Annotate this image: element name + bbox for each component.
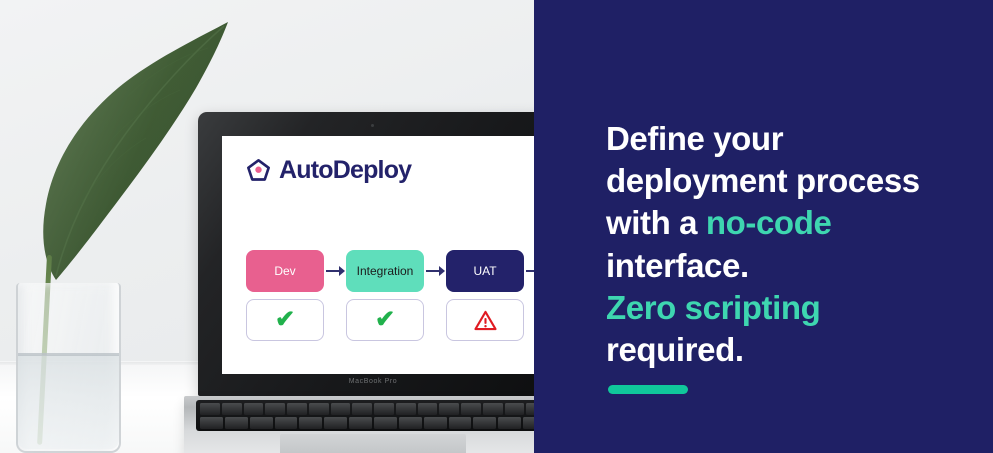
copy-panel: Define your deployment process with a no… bbox=[534, 0, 993, 453]
vase-water bbox=[18, 355, 119, 449]
keyboard[interactable] bbox=[196, 400, 534, 431]
status-box-dev[interactable]: ✔ bbox=[246, 299, 324, 341]
check-icon: ✔ bbox=[375, 308, 395, 332]
headline-line-4: interface. bbox=[606, 247, 749, 284]
app-brand: AutoDeploy bbox=[246, 158, 534, 183]
pipeline-stage-dev[interactable]: Dev ✔ bbox=[246, 250, 324, 341]
headline-accent-no-code: no-code bbox=[706, 204, 832, 241]
pipeline-stage-uat[interactable]: UAT bbox=[446, 250, 524, 341]
headline-accent-zero-scripting: Zero scripting bbox=[606, 289, 820, 326]
vase-waterline bbox=[18, 353, 119, 356]
laptop-base bbox=[184, 396, 534, 453]
stage-label-integration[interactable]: Integration bbox=[346, 250, 424, 292]
status-box-integration[interactable]: ✔ bbox=[346, 299, 424, 341]
glass-vase bbox=[16, 283, 121, 453]
key-row bbox=[200, 403, 534, 415]
check-icon: ✔ bbox=[275, 308, 295, 332]
headline: Define your deployment process with a no… bbox=[606, 118, 976, 371]
pipeline-stage-integration[interactable]: Integration ✔ bbox=[346, 250, 424, 341]
laptop-model-label: MacBook Pro bbox=[198, 378, 534, 385]
laptop-lid: AutoDeploy Dev ✔ bbox=[198, 112, 534, 396]
flow-arrow-icon bbox=[524, 250, 534, 292]
laptop: AutoDeploy Dev ✔ bbox=[198, 112, 534, 453]
app-screen: AutoDeploy Dev ✔ bbox=[222, 136, 534, 374]
promo-banner: AutoDeploy Dev ✔ bbox=[0, 0, 993, 453]
photo-pane: AutoDeploy Dev ✔ bbox=[0, 0, 534, 453]
headline-line-2: deployment process bbox=[606, 162, 920, 199]
headline-line-3-prefix: with a bbox=[606, 204, 706, 241]
flow-arrow-icon bbox=[324, 250, 346, 292]
webcam-icon bbox=[371, 124, 374, 127]
warning-triangle-icon bbox=[474, 310, 497, 331]
headline-line-1: Define your bbox=[606, 120, 783, 157]
pentagon-dot-icon bbox=[246, 158, 271, 183]
headline-line-6: required. bbox=[606, 331, 744, 368]
laptop-screen: AutoDeploy Dev ✔ bbox=[222, 136, 534, 374]
stage-label-uat[interactable]: UAT bbox=[446, 250, 524, 292]
deployment-pipeline: Dev ✔ Integration ✔ bbox=[246, 250, 534, 341]
key-row bbox=[200, 417, 534, 429]
status-box-uat[interactable] bbox=[446, 299, 524, 341]
trackpad[interactable] bbox=[280, 434, 466, 453]
accent-underline-bar bbox=[608, 385, 688, 394]
stage-label-dev[interactable]: Dev bbox=[246, 250, 324, 292]
brand-name: AutoDeploy bbox=[279, 158, 411, 183]
flow-arrow-icon bbox=[424, 250, 446, 292]
